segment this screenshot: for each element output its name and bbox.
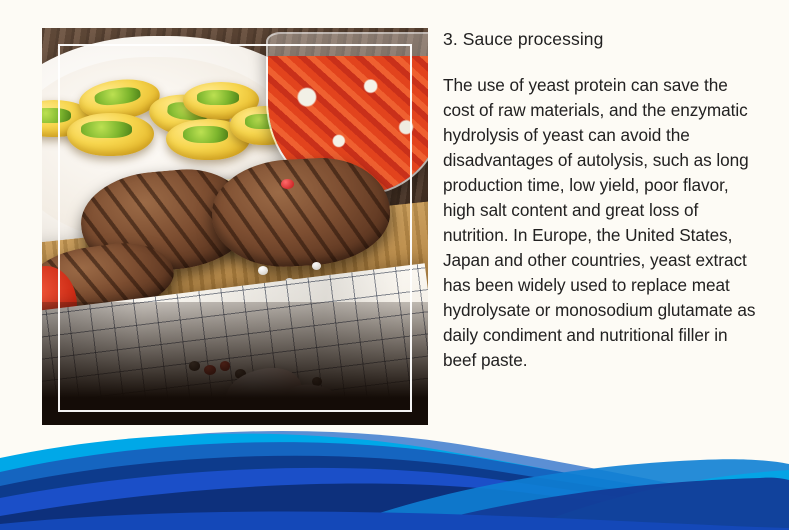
text-column: 3. Sauce processing The use of yeast pro… bbox=[443, 29, 763, 373]
herbed-potato bbox=[67, 113, 154, 156]
table-shadow bbox=[42, 302, 428, 425]
photo-scene bbox=[42, 28, 428, 425]
slide-canvas: 3. Sauce processing The use of yeast pro… bbox=[0, 0, 789, 530]
food-photo bbox=[42, 28, 428, 425]
salt-grain bbox=[258, 266, 268, 275]
body-paragraph: The use of yeast protein can save the co… bbox=[443, 73, 763, 373]
section-heading: 3. Sauce processing bbox=[443, 29, 763, 51]
wave-decoration bbox=[0, 420, 789, 530]
pink-peppercorn-garnish bbox=[281, 179, 293, 189]
